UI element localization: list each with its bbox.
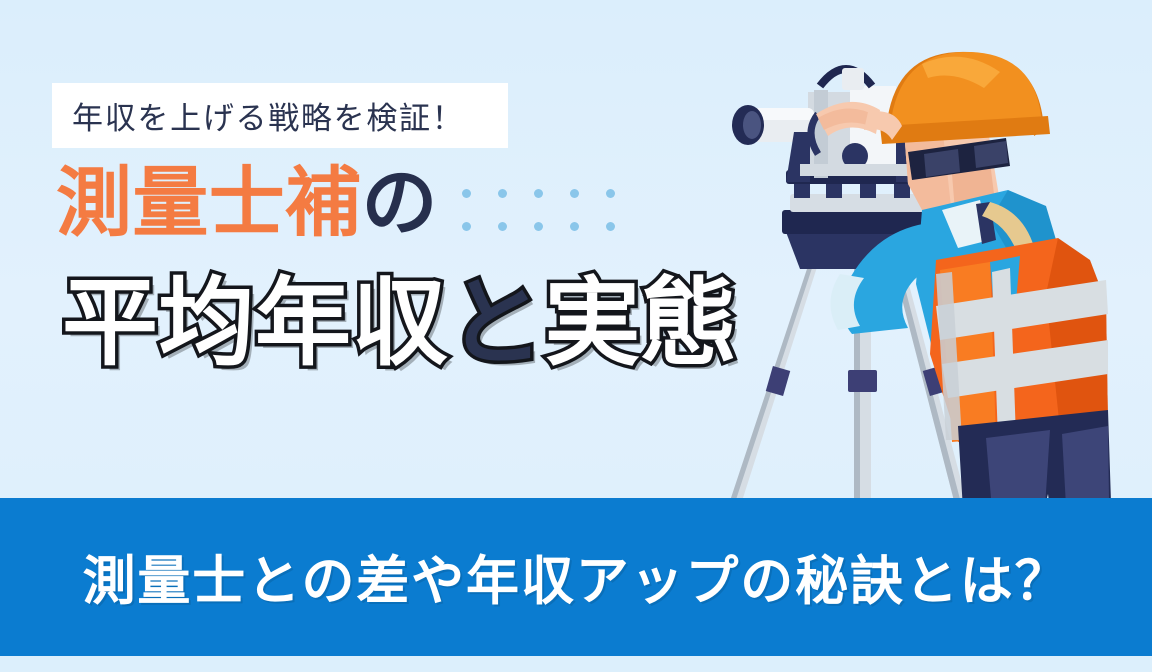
dot-grid-decoration [462,189,624,239]
decoration-dot [462,189,471,198]
decoration-dot [570,222,579,231]
headline-line-3: 平均年収と実態 [62,274,737,375]
headline-part-reality: 実態 [544,270,737,377]
decoration-dot [498,222,507,231]
person-hi-vis-vest [930,238,1108,442]
headline-particle-no: の [362,161,438,246]
decoration-dot [606,222,615,231]
headline-line-2: 測量士補の [56,166,438,242]
bottom-banner-text: 測量士との差や年収アップの秘訣とは？ [83,539,1070,615]
eyebrow-label: 年収を上げる戦略を検証！ [52,83,508,148]
decoration-dot [534,222,543,231]
headline-highlight: 測量士補 [56,161,362,246]
bottom-banner-text-wrap: 測量士との差や年収アップの秘訣とは？ [0,498,1152,656]
decoration-dot [498,189,507,198]
eyebrow-text: 年収を上げる戦略を検証！ [52,93,464,138]
headline-particle-to: と [448,270,544,377]
hero-banner: 年収を上げる戦略を検証！ 測量士補の 平均年収と実態 測量士との差や年収アップの… [0,0,1152,672]
decoration-dot [606,189,615,198]
decoration-dot [534,189,543,198]
headline-part-average-income: 平均年収 [62,270,448,377]
decoration-dot [462,222,471,231]
decoration-dot [570,189,579,198]
